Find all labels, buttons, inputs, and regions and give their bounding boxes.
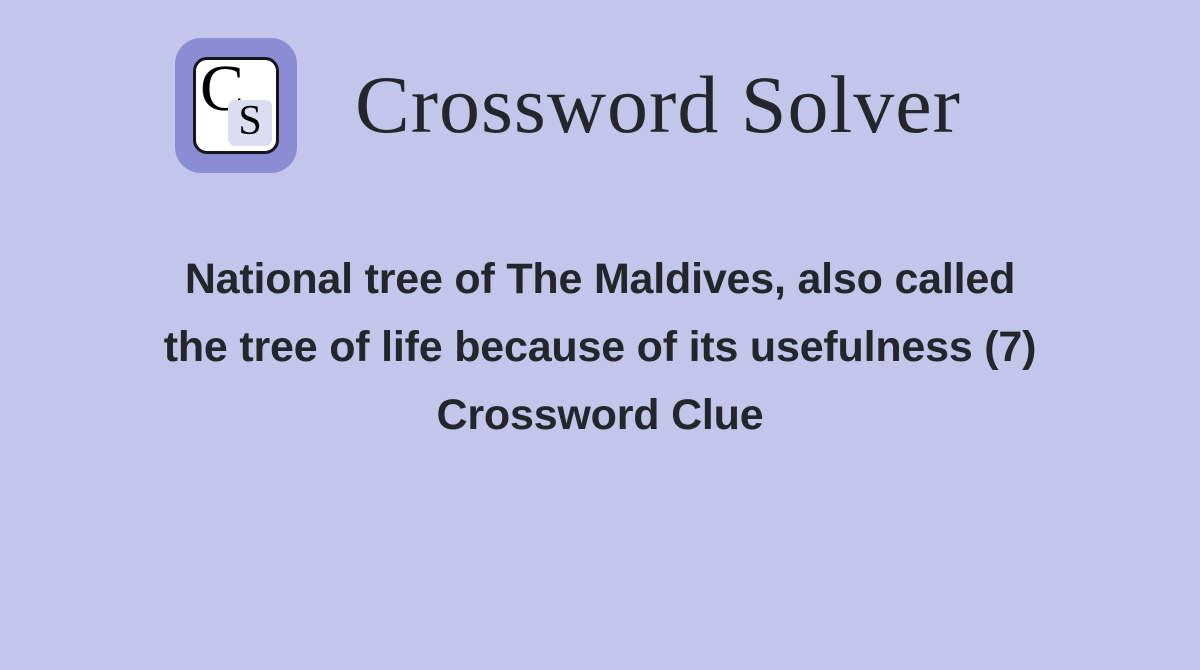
logo-letter-s-tile: S <box>228 100 272 146</box>
logo-inner-tile: C S <box>193 57 279 154</box>
clue-suffix-text: Crossword Clue <box>150 381 1050 449</box>
clue-question-text: National tree of The Maldives, also call… <box>150 245 1050 381</box>
page-root: C S Crossword Solver National tree of Th… <box>0 0 1200 670</box>
site-title: Crossword Solver <box>355 64 961 146</box>
logo-letter-s: S <box>228 98 272 144</box>
clue-block: National tree of The Maldives, also call… <box>150 245 1050 449</box>
crossword-solver-logo[interactable]: C S <box>175 38 297 173</box>
brand-header: C S Crossword Solver <box>0 0 1200 210</box>
